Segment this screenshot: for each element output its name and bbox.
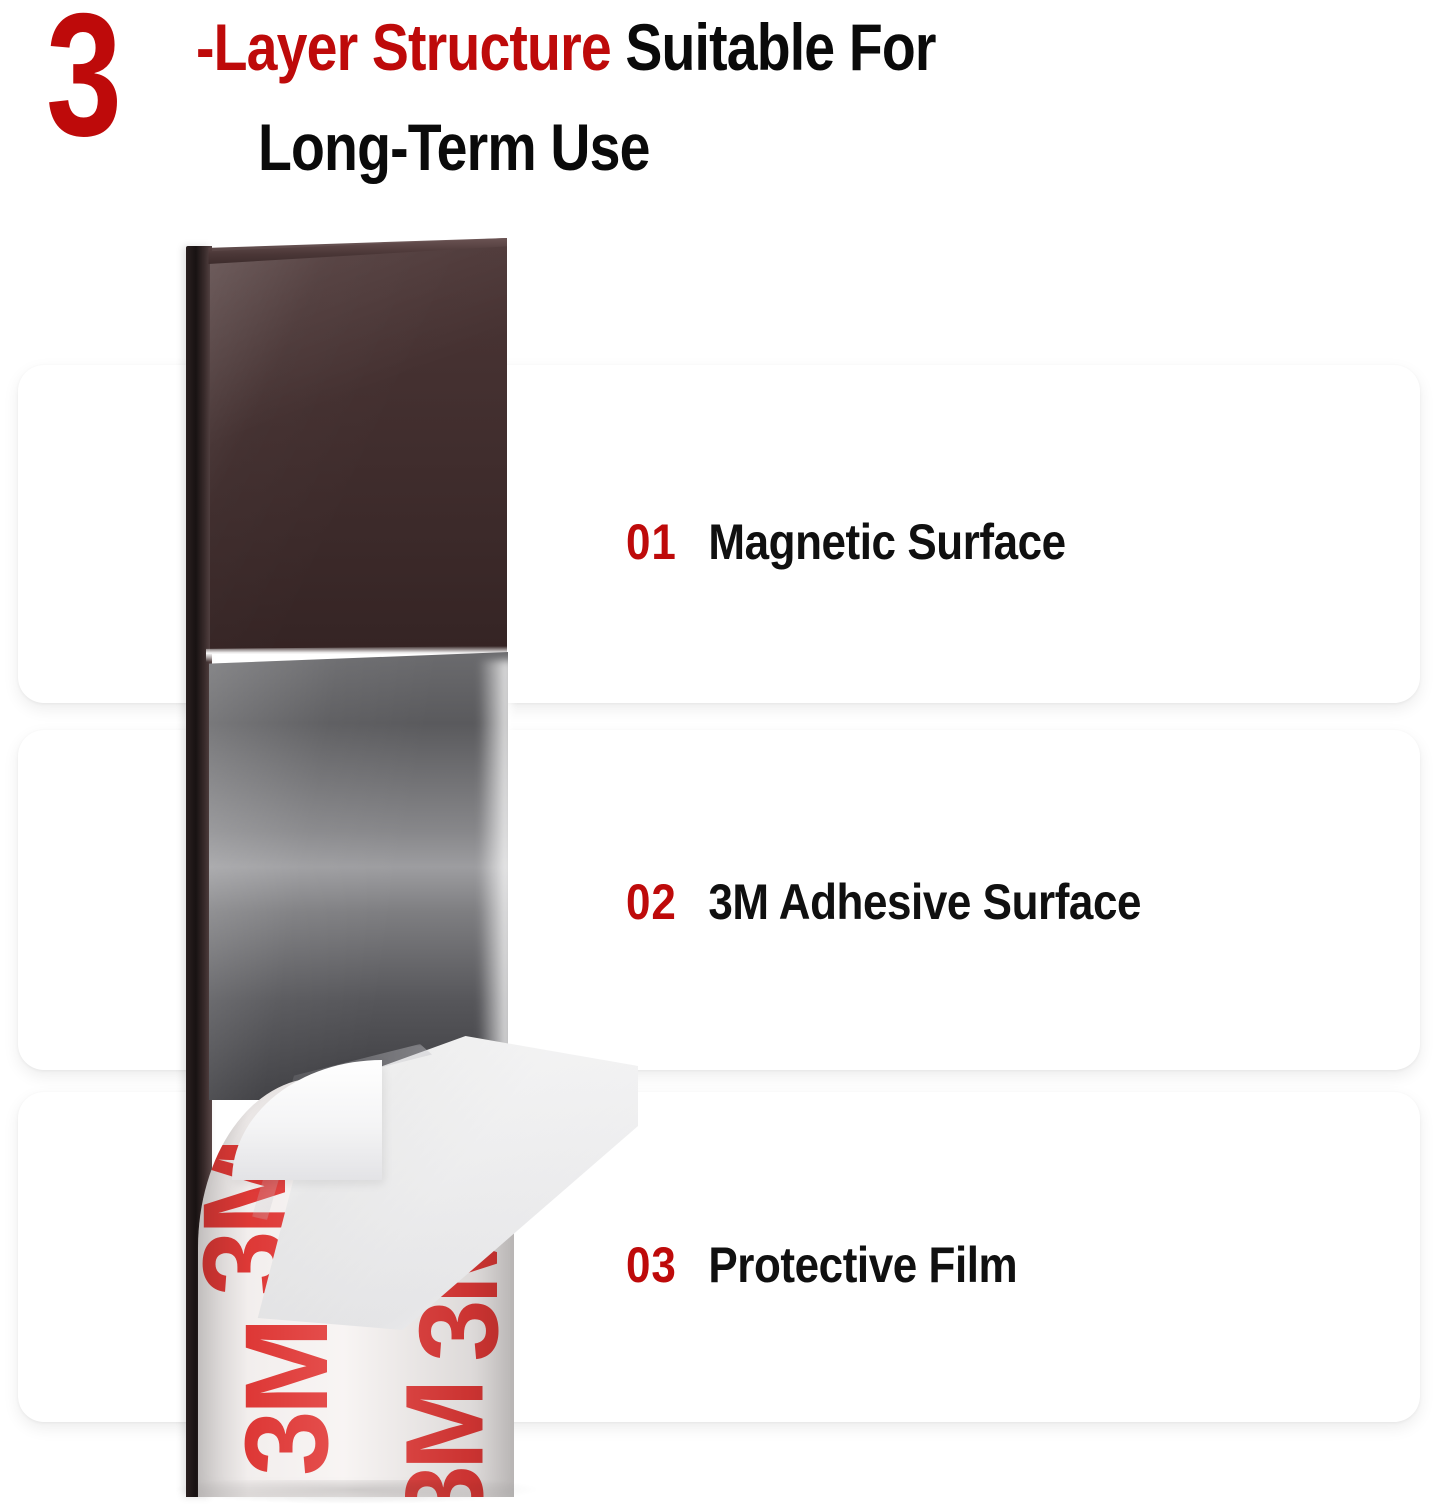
headline-line-2: Long-Term Use (258, 114, 650, 180)
headline-line-1: -Layer Structure Suitable For (196, 14, 936, 80)
feature-title-01: Magnetic Surface (708, 514, 1065, 570)
feature-title-02: 3M Adhesive Surface (708, 874, 1141, 930)
headline-line-1-black: Suitable For (611, 10, 936, 84)
layer-magnetic-glare (210, 238, 507, 654)
feature-number-03: 03 (626, 1237, 677, 1293)
product-ground-shadow (176, 1480, 536, 1504)
feature-number-02: 02 (626, 874, 677, 930)
feature-label-02: 023M Adhesive Surface (626, 877, 1141, 927)
headline-line-1-red: -Layer Structure (196, 10, 611, 84)
feature-label-01: 01Magnetic Surface (626, 517, 1066, 567)
feature-label-03: 03Protective Film (626, 1240, 1017, 1290)
feature-number-01: 01 (626, 514, 677, 570)
layer-adhesive-glare (209, 652, 508, 1100)
feature-title-03: Protective Film (708, 1237, 1017, 1293)
headline-big-number: 3 (46, 0, 119, 163)
headline-block: 3 -Layer Structure Suitable For Long-Ter… (0, 0, 1445, 210)
layer-adhesive-rim-light (478, 660, 512, 1090)
headline-line-2-black: Long-Term Use (258, 110, 650, 184)
